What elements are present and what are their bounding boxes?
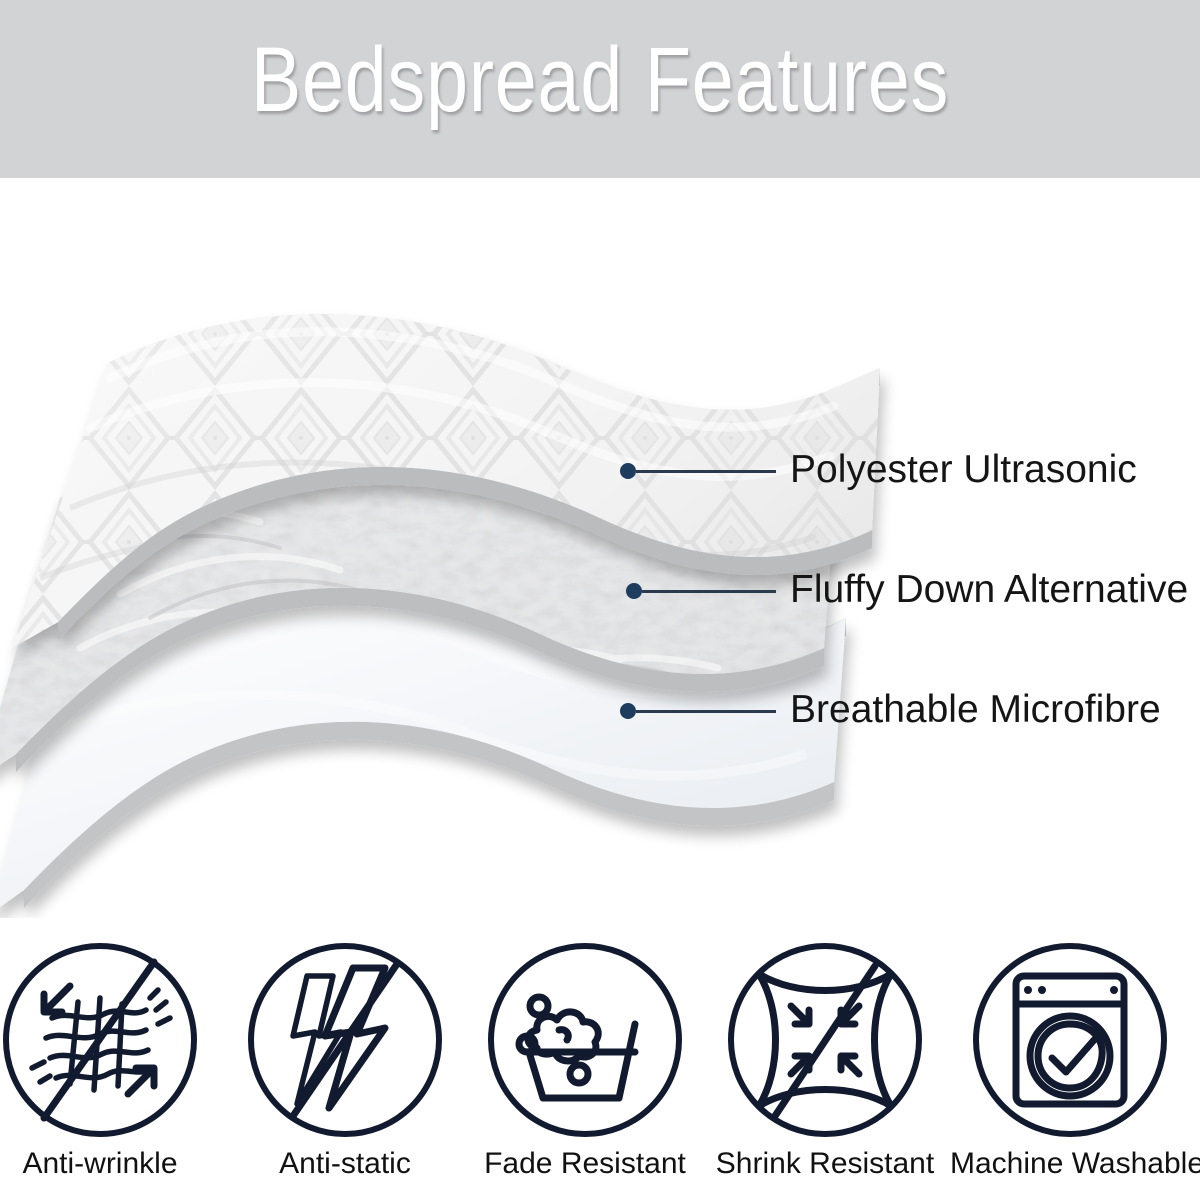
no-shrink-icon	[725, 940, 925, 1140]
feature-fade-resistant[interactable]: Fade Resistant	[465, 940, 705, 1200]
no-wrinkle-icon	[0, 940, 200, 1140]
lightning-bolts-icon	[245, 940, 445, 1140]
feature-label-anti-static: Anti-static	[225, 1146, 465, 1182]
feature-label-shrink-resistant: Shrink Resistant	[705, 1146, 945, 1182]
feature-label-fade-resistant: Fade Resistant	[465, 1146, 705, 1182]
layered-fabric-illustration	[0, 178, 1200, 918]
feature-anti-wrinkle[interactable]: Anti-wrinkle	[0, 940, 220, 1200]
feature-label-machine-washable: Machine Washable	[950, 1146, 1190, 1182]
wash-basin-suds-icon	[485, 940, 685, 1140]
product-feature-infographic: Bedspread Features	[0, 0, 1200, 1200]
fabric-layers-graphic	[0, 178, 1200, 918]
feature-machine-washable[interactable]: Machine Washable	[950, 940, 1190, 1200]
feature-icons-row: Anti-wrinkle Anti-static	[0, 940, 1200, 1200]
feature-label-anti-wrinkle: Anti-wrinkle	[0, 1146, 220, 1182]
page-title: Bedspread Features	[108, 34, 1092, 126]
feature-shrink-resistant[interactable]: Shrink Resistant	[705, 940, 945, 1200]
washing-machine-check-icon	[970, 940, 1170, 1140]
feature-anti-static[interactable]: Anti-static	[225, 940, 465, 1200]
header-band: Bedspread Features	[0, 0, 1200, 178]
